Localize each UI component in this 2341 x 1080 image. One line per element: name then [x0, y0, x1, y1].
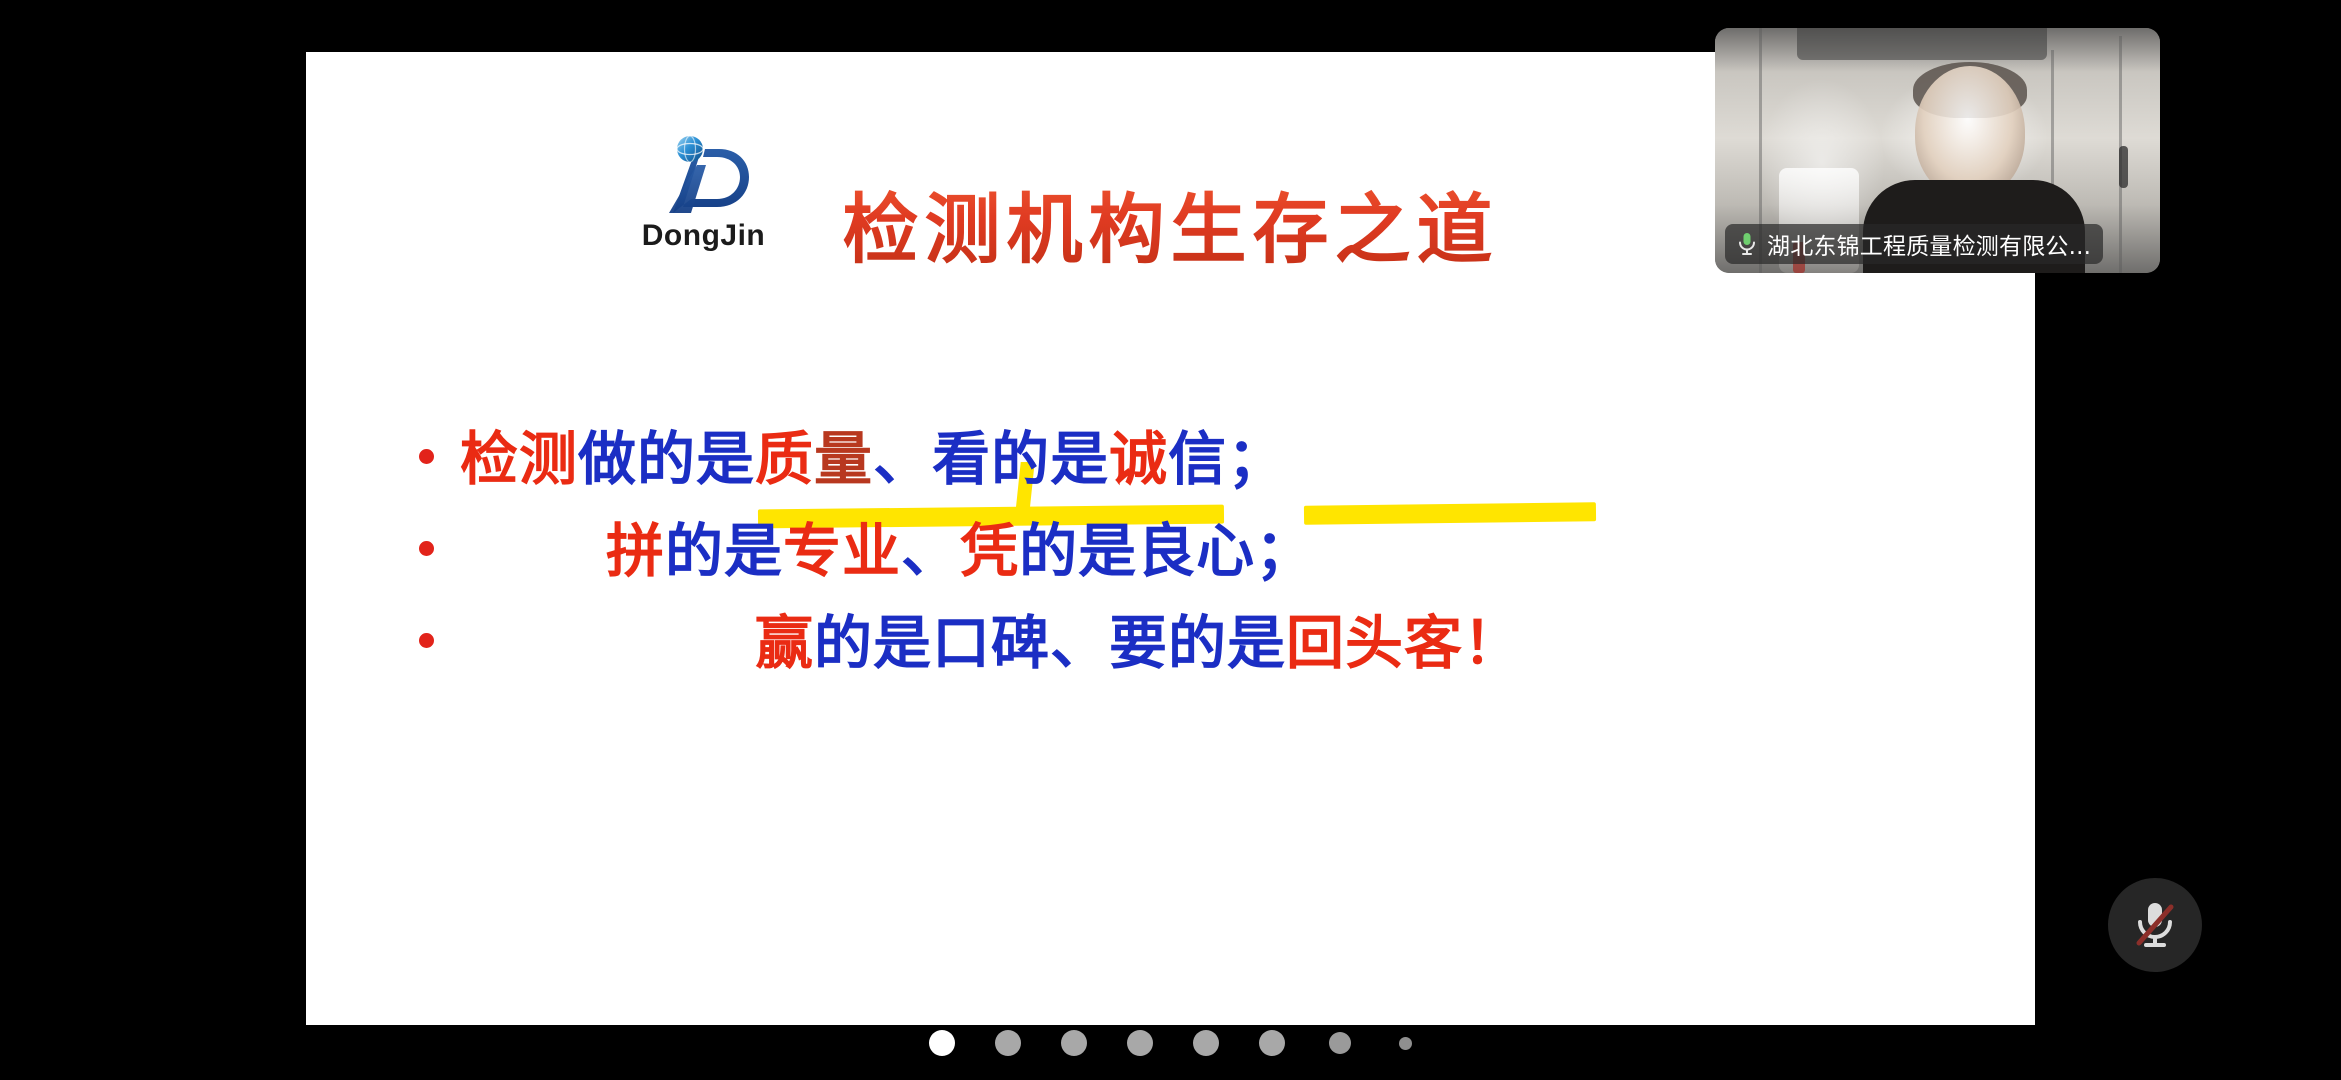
pagination-dot-3[interactable]	[1061, 1030, 1087, 1056]
pagination-dot-7[interactable]	[1329, 1032, 1351, 1054]
pagination-dot-2[interactable]	[995, 1030, 1021, 1056]
meeting-screen-share-view: DongJin 检测机构生存之道 检测做的是质量、看的是诚信； 拼的是专业、凭的…	[0, 0, 2341, 1080]
run-text: 信	[1168, 425, 1227, 493]
run-text: 诚	[1109, 425, 1168, 493]
run-text: 的是良心；	[1019, 517, 1314, 585]
video-person-face	[1915, 66, 2025, 198]
mute-toggle-button[interactable]	[2108, 878, 2202, 972]
run-text: 拼	[606, 517, 665, 585]
video-scene-door-handle	[2119, 146, 2128, 188]
run-text: 、	[873, 425, 932, 493]
pagination-dot-1[interactable]	[929, 1030, 955, 1056]
run-text: 凭	[960, 517, 1019, 585]
run-text: 的是	[665, 517, 783, 585]
microphone-unmuted-icon	[1735, 231, 1759, 257]
participant-name: 湖北东锦工程质量检测有限公...	[1767, 227, 2091, 261]
run-text: 赢	[755, 609, 814, 677]
microphone-muted-icon	[2131, 899, 2179, 951]
highlight-underline-2	[1304, 502, 1596, 525]
pagination-dot-4[interactable]	[1127, 1030, 1153, 1056]
bullet-marker	[419, 541, 434, 556]
bullet-marker	[419, 633, 434, 648]
bullet-marker	[419, 449, 434, 464]
bullet-line-3: 赢的是口碑、要的是回头客！	[419, 614, 1522, 672]
participant-name-badge: 湖北东锦工程质量检测有限公...	[1725, 224, 2103, 264]
run-text: 做的是	[578, 425, 755, 493]
run-text: 、	[901, 517, 960, 585]
participant-video-thumbnail[interactable]: 湖北东锦工程质量检测有限公...	[1715, 28, 2160, 273]
bullet-line-2: 拼的是专业、凭的是良心；	[419, 522, 1314, 580]
video-scene-ceiling	[1797, 28, 2047, 60]
slide-pagination	[0, 1030, 2341, 1056]
run-text: 专业	[783, 517, 901, 585]
run-text: 检测	[460, 425, 578, 493]
pagination-dot-6[interactable]	[1259, 1030, 1285, 1056]
pagination-dot-5[interactable]	[1193, 1030, 1219, 1056]
run-text: 量	[814, 425, 873, 493]
bullet-line-1: 检测做的是质量、看的是诚信；	[419, 430, 1286, 488]
run-text: 回头客！	[1286, 609, 1522, 677]
run-text: 质	[755, 425, 814, 493]
run-text: 的是口碑、要的是	[814, 609, 1286, 677]
run-text: 看的是	[932, 425, 1109, 493]
run-text: ；	[1227, 425, 1286, 493]
pagination-dot-8[interactable]	[1399, 1037, 1412, 1050]
